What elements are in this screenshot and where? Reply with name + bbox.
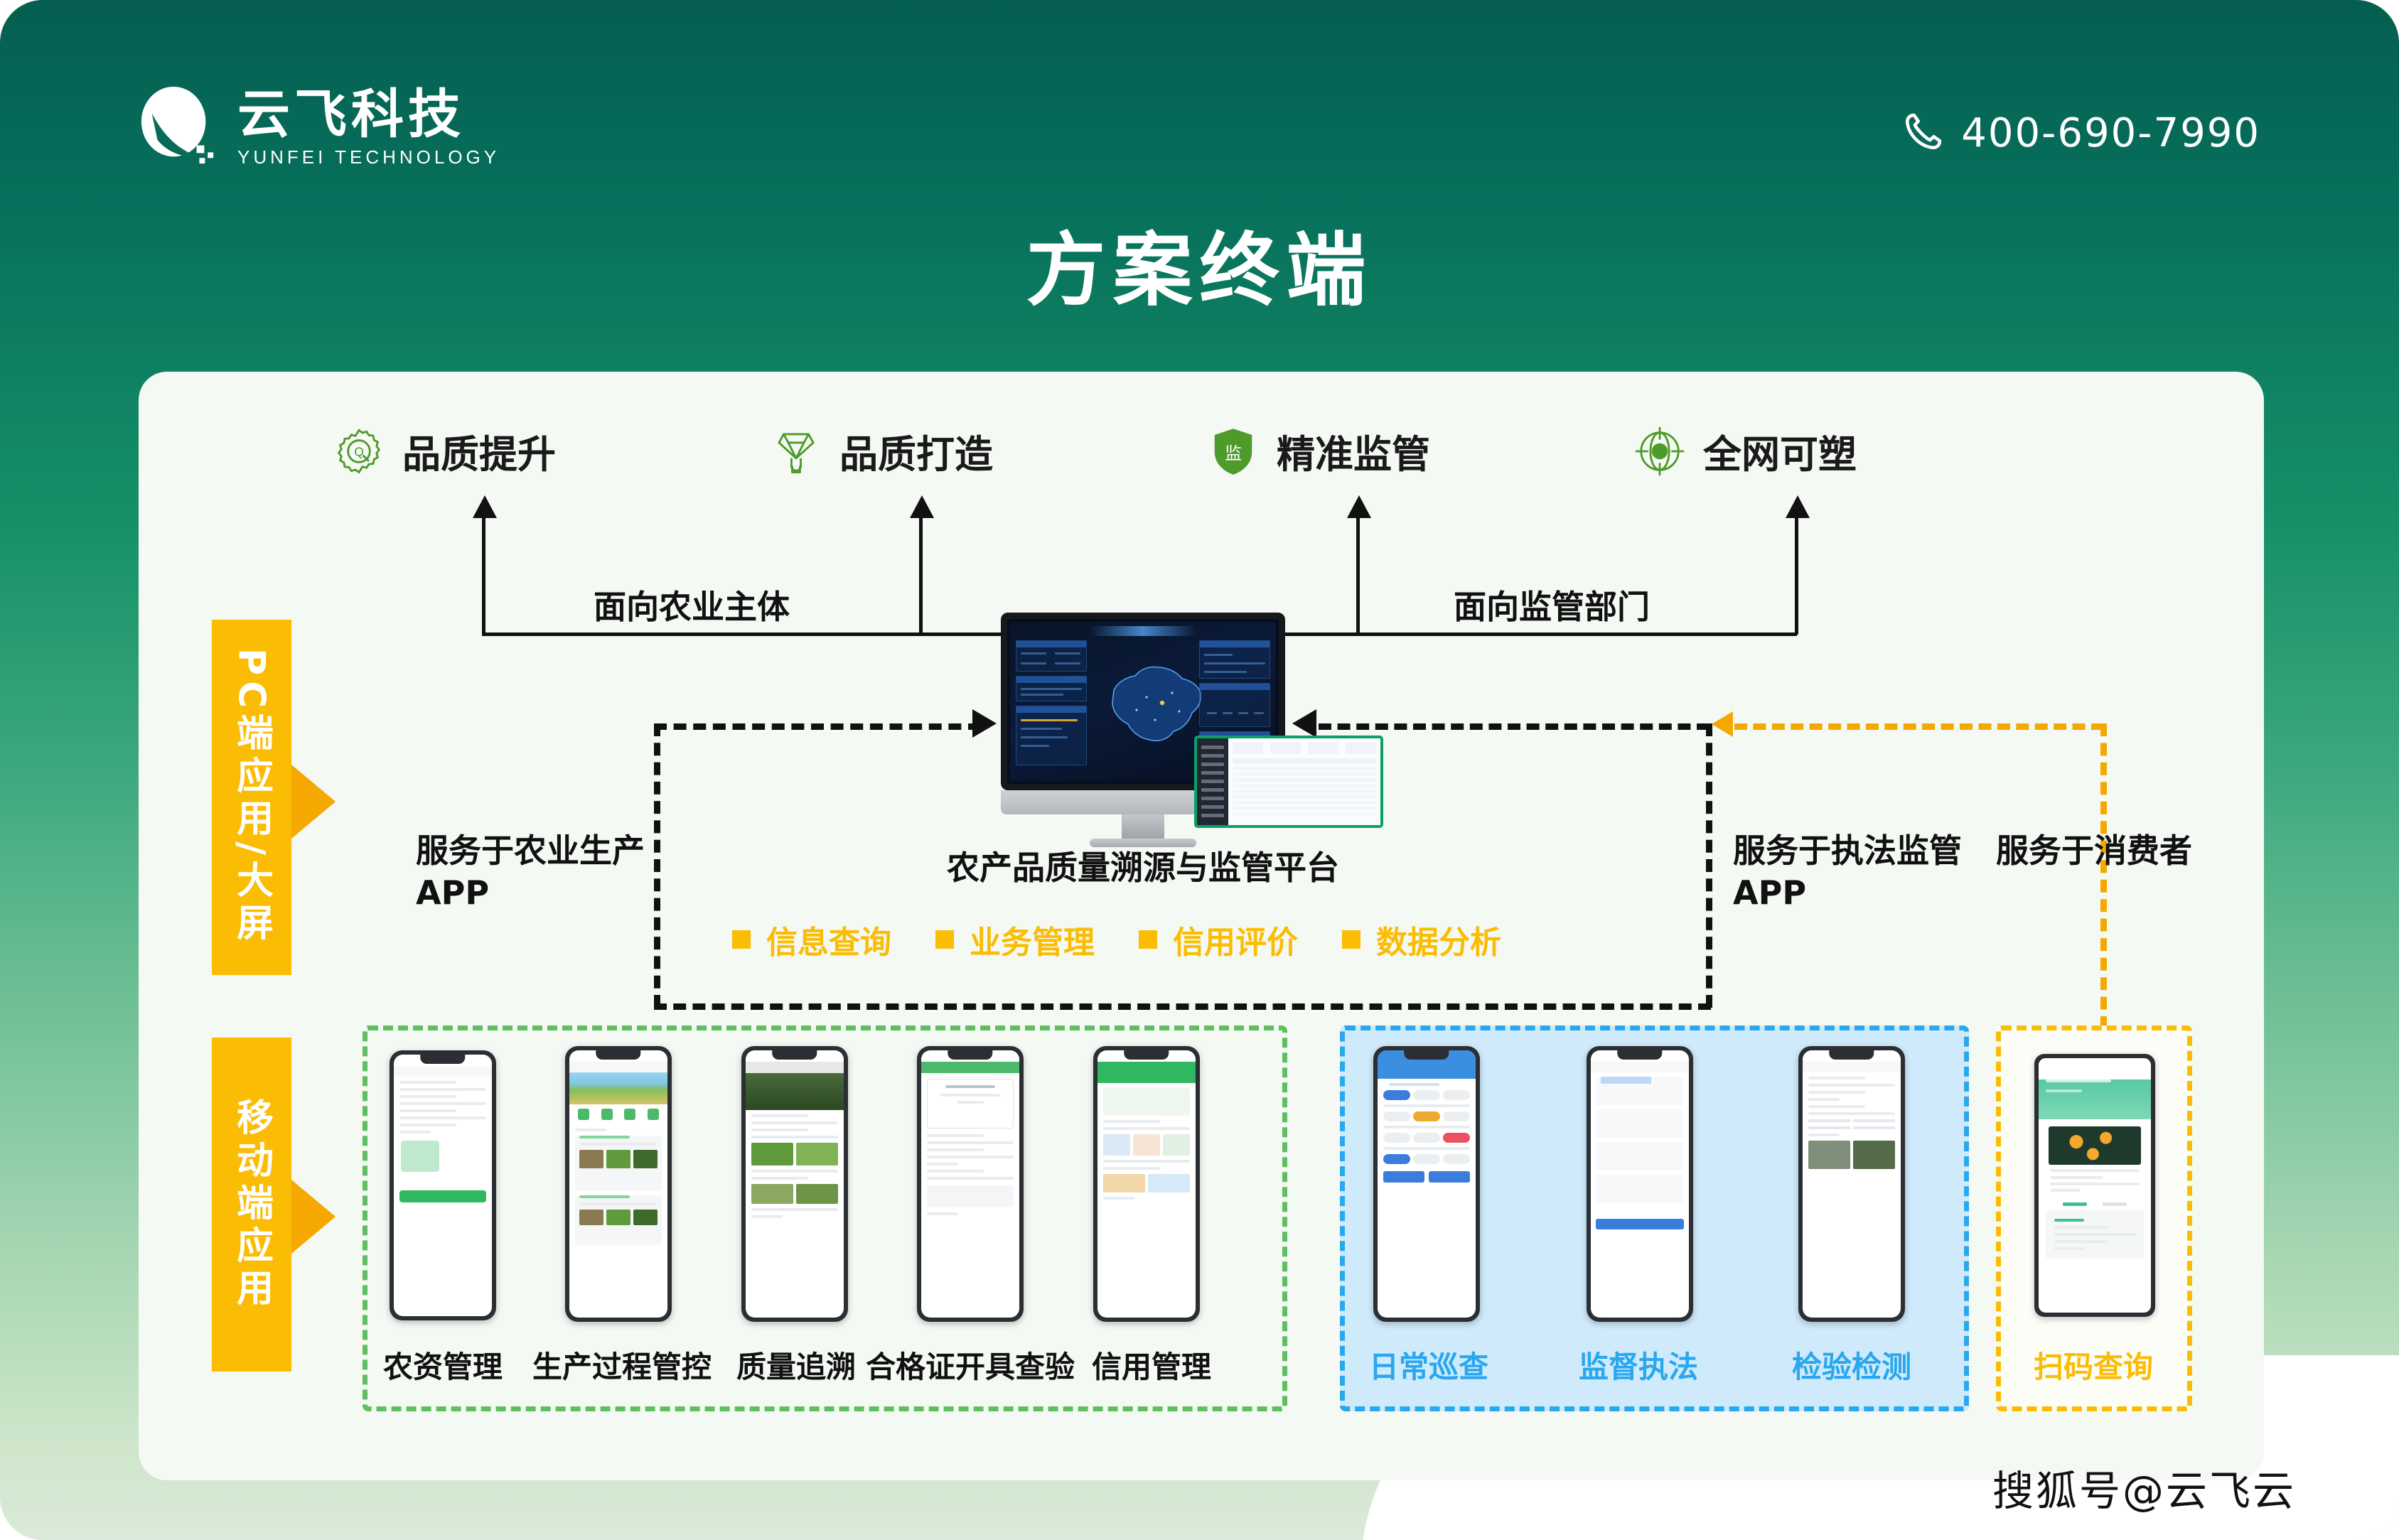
dashed-connector-consumer-vert xyxy=(2100,723,2107,1029)
phone-label: 生产过程管控 xyxy=(526,1343,718,1386)
watermark: 搜狐号@云飞云 xyxy=(1992,1458,2296,1517)
flow-branch-1 xyxy=(482,515,485,635)
dashed-connector-bottom xyxy=(654,1003,1711,1010)
phone-mockup-inspection-testing xyxy=(1798,1046,1905,1322)
bullet-square-icon xyxy=(935,930,954,949)
sidebar-tag-mobile-arrow-icon xyxy=(291,1180,336,1254)
phone-label: 扫码查询 xyxy=(2004,1343,2182,1386)
dashed-connector-left-vert xyxy=(654,723,660,1008)
capability-item[interactable]: 信用评价 xyxy=(1139,917,1298,962)
phone-mockup-daily-inspection xyxy=(1373,1046,1480,1322)
phone-label: 信用管理 xyxy=(1066,1343,1237,1386)
segment-label-agriculture: 面向农业主体 xyxy=(594,581,790,628)
sidebar-tag-pc-arrow-icon xyxy=(291,765,336,839)
caption-platform: 农产品质量溯源与监管平台 xyxy=(947,847,1339,889)
feature-label: 精准监管 xyxy=(1277,423,1430,479)
phone-number: 400-690-7990 xyxy=(1961,110,2260,156)
feature-item-quality-improve[interactable]: Q 品质提升 xyxy=(334,423,556,479)
caption-agriculture-app: 服务于农业生产 APP xyxy=(416,830,645,914)
admin-table-body xyxy=(1228,738,1380,825)
phone-mockup-scan-query xyxy=(2034,1054,2155,1317)
platform-capability-list: 信息查询 业务管理 信用评价 数据分析 xyxy=(732,917,1501,962)
phone-label: 日常巡查 xyxy=(1343,1343,1514,1386)
page-title: 方案终端 xyxy=(0,206,2399,321)
phone-label: 农资管理 xyxy=(340,1343,546,1386)
phone-mockup-certificate-check xyxy=(917,1046,1024,1322)
flow-branch-3 xyxy=(1356,515,1360,635)
svg-text:监: 监 xyxy=(1225,443,1242,463)
capability-label: 数据分析 xyxy=(1376,917,1501,962)
dashboard-title-bar xyxy=(1090,626,1196,636)
svg-text:Q: Q xyxy=(354,444,364,458)
feature-item-precise-supervision[interactable]: 监 精准监管 xyxy=(1208,423,1430,479)
flow-arrow-4 xyxy=(1786,495,1810,518)
capability-label: 信用评价 xyxy=(1173,917,1298,962)
header: 云飞科技 YUNFEI TECHNOLOGY 400-690-7990 xyxy=(0,0,2399,192)
capability-label: 信息查询 xyxy=(766,917,891,962)
network-target-icon xyxy=(1635,426,1685,476)
sidebar-tag-mobile[interactable]: 移动端应用 xyxy=(212,1038,291,1372)
flow-arrow-3 xyxy=(1347,495,1371,518)
phone-label: 质量追溯 xyxy=(711,1343,881,1386)
feature-label: 品质打造 xyxy=(839,423,993,479)
shield-supervise-icon: 监 xyxy=(1208,426,1258,476)
dashed-connector-right-vert xyxy=(1706,723,1712,1008)
contact-phone[interactable]: 400-690-7990 xyxy=(1903,110,2260,156)
phone-mockup-supervision-enforcement xyxy=(1587,1046,1693,1322)
dashed-arrow-left xyxy=(972,709,997,738)
bullet-square-icon xyxy=(1139,930,1157,949)
flow-branch-2 xyxy=(919,515,923,635)
diamond-hand-icon xyxy=(771,426,821,476)
phone-label: 检验检测 xyxy=(1766,1343,1937,1386)
dashed-connector-left-top xyxy=(654,723,981,730)
bullet-square-icon xyxy=(1342,930,1360,949)
admin-table-mockup xyxy=(1194,736,1383,828)
phone-mockup-quality-trace xyxy=(741,1046,848,1322)
dashed-connector-right-top xyxy=(1319,723,1710,730)
segment-label-supervision: 面向监管部门 xyxy=(1454,581,1650,628)
admin-sidebar xyxy=(1197,738,1228,825)
phone-mockup-agri-supplies xyxy=(390,1050,496,1320)
sidebar-tag-pc[interactable]: PC端应用/大屏 xyxy=(212,620,291,975)
flow-branch-4 xyxy=(1795,515,1798,635)
phone-label: 监督执法 xyxy=(1553,1343,1724,1386)
sidebar-tag-mobile-label: 移动端应用 xyxy=(225,1098,279,1311)
phone-mockup-production-control xyxy=(565,1046,672,1322)
feature-item-quality-build[interactable]: 品质打造 xyxy=(771,423,993,479)
dashed-arrow-consumer xyxy=(1712,711,1733,737)
flow-arrow-2 xyxy=(910,495,934,518)
monitor-stand xyxy=(1122,814,1164,839)
brand-logo: 云飞科技 YUNFEI TECHNOLOGY xyxy=(135,85,500,169)
feature-label: 全网可塑 xyxy=(1703,423,1857,479)
bullet-square-icon xyxy=(732,930,751,949)
caption-consumer: 服务于消费者 xyxy=(1996,830,2192,872)
capability-label: 业务管理 xyxy=(970,917,1095,962)
gear-quality-icon: Q xyxy=(334,426,384,476)
logo-text-group: 云飞科技 YUNFEI TECHNOLOGY xyxy=(237,88,500,166)
dashed-connector-consumer-top xyxy=(1734,723,2104,730)
monitor-base xyxy=(1090,839,1196,847)
phone-icon xyxy=(1903,111,1944,156)
feature-item-network-shapeable[interactable]: 全网可塑 xyxy=(1635,423,1857,479)
capability-item[interactable]: 数据分析 xyxy=(1342,917,1501,962)
sidebar-tag-pc-label: PC端应用/大屏 xyxy=(225,648,279,946)
logo-text-en: YUNFEI TECHNOLOGY xyxy=(237,148,500,166)
flow-arrow-1 xyxy=(473,495,497,518)
capability-item[interactable]: 业务管理 xyxy=(935,917,1095,962)
feature-label: 品质提升 xyxy=(402,423,556,479)
logo-text-cn: 云飞科技 xyxy=(237,88,500,141)
dashed-arrow-right xyxy=(1292,709,1316,738)
yunfei-leaf-logo-icon xyxy=(135,85,219,169)
phone-mockup-credit-management xyxy=(1093,1046,1200,1322)
caption-enforcement-app: 服务于执法监管 APP xyxy=(1733,830,1962,914)
phone-label: 合格证开具查验 xyxy=(864,1343,1077,1386)
capability-item[interactable]: 信息查询 xyxy=(732,917,891,962)
